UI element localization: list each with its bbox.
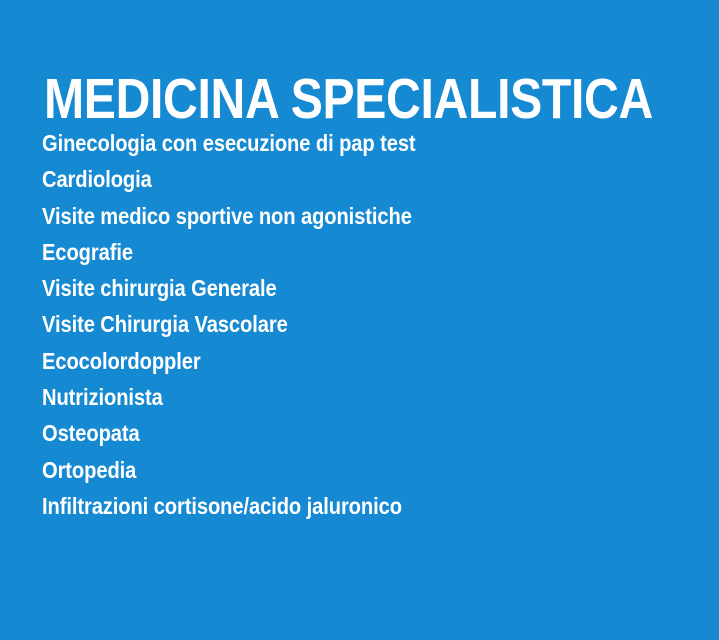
service-list-item: Osteopata (42, 418, 620, 454)
service-list-item: Ortopedia (42, 455, 620, 491)
service-list-item: Cardiologia (42, 164, 620, 200)
service-list-item: Ecografie (42, 237, 620, 273)
service-list: Ginecologia con esecuzione di pap testCa… (42, 128, 702, 527)
service-list-item: Nutrizionista (42, 382, 620, 418)
service-list-item: Infiltrazioni cortisone/acido jaluronico (42, 491, 620, 527)
service-list-item: Ginecologia con esecuzione di pap test (42, 128, 620, 164)
service-list-item: Ecocolordoppler (42, 346, 620, 382)
service-list-item: Visite medico sportive non agonistiche (42, 201, 620, 237)
medicina-specialistica-panel: MEDICINA SPECIALISTICA Ginecologia con e… (0, 0, 719, 640)
service-list-item: Visite Chirurgia Vascolare (42, 309, 620, 345)
service-list-item: Visite chirurgia Generale (42, 273, 620, 309)
page-title: MEDICINA SPECIALISTICA (44, 68, 602, 130)
